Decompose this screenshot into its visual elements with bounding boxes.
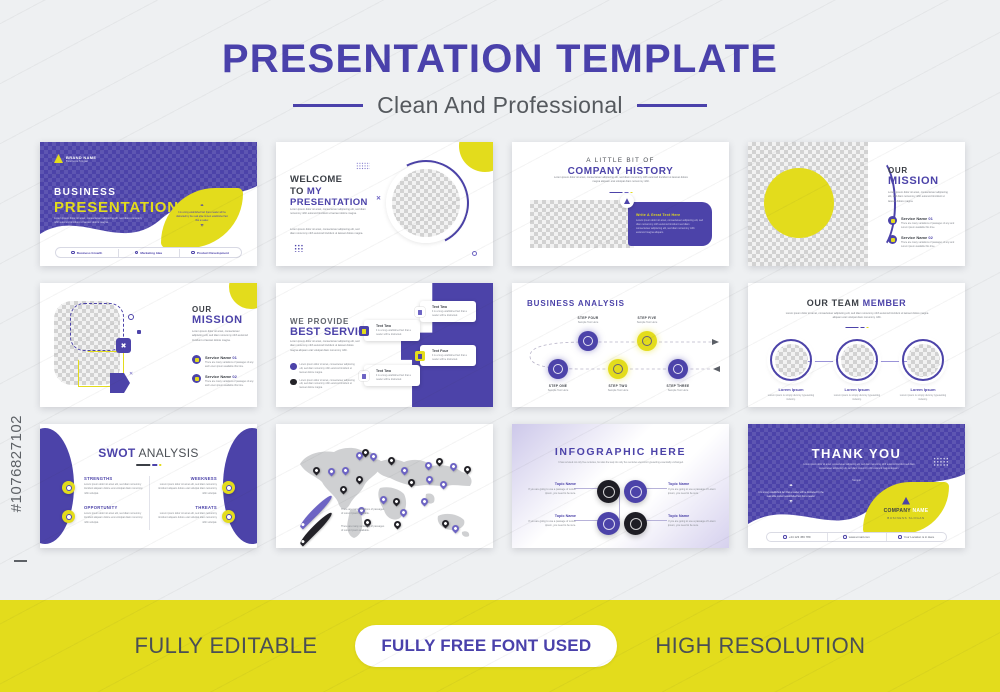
- step-sublabel: Sample Text Here: [626, 321, 668, 324]
- slide5-paragraph: Lorem ipsum dolor sit amet, consectetuer…: [192, 330, 248, 343]
- slide6-bullet-text: Lorem ipsum dolor sit amet, consectetuer…: [300, 363, 358, 375]
- threats-badge-icon: [222, 510, 235, 523]
- slide1-button-business-growth[interactable]: Business Growth: [56, 251, 118, 255]
- slide11-topic-body: If you are going to use a passage of Lor…: [668, 520, 716, 529]
- slide3-card-body: Lorem ipsum dolor sit amet, consectetuer…: [636, 219, 704, 236]
- slide5-title: OUR MISSION: [192, 305, 243, 326]
- slide2-title-line3: PRESENTATION: [290, 197, 368, 208]
- slide3-divider: [609, 192, 632, 193]
- building-icon: [888, 216, 897, 225]
- tools-icon: ✖: [116, 338, 131, 353]
- slide9-quadrant-body: Lorem ipsum dolor sit amet elit, sed dia…: [155, 512, 217, 525]
- slide12-company-name: COMPANY: [884, 508, 913, 514]
- avatar-photo-placeholder: [907, 344, 940, 377]
- step-sublabel: Sample Text Here: [537, 389, 579, 392]
- slide7-label-step-three: STEP THREE Sample Text Here: [657, 384, 699, 392]
- step-sublabel: Sample Text Here: [657, 389, 699, 392]
- slide9-quadrant-body: Lorem ipsum dolor sit amet elit, sed dia…: [84, 512, 146, 525]
- slide-thumb-business-analysis[interactable]: BUSINESS ANALYSIS STEP FOUR Sample Text …: [512, 283, 729, 407]
- slide11-topic-body: If you are going to use a passage of Lor…: [668, 488, 716, 497]
- avatar-photo-placeholder: [775, 344, 808, 377]
- slide7-node-step-three[interactable]: [668, 359, 688, 379]
- slide5-service-desc: There are many variations of passages of…: [205, 361, 255, 369]
- slide6-card: Text Two It is a long established fact t…: [420, 301, 476, 322]
- slide-thumb-welcome[interactable]: WELCOME TO MY PRESENTATION ✕ Lorem ipsum…: [276, 142, 493, 266]
- feature-free-font-pill: FULLY FREE FONT USED: [355, 625, 617, 667]
- slide11-hub-node[interactable]: [624, 480, 647, 503]
- page-title: PRESENTATION TEMPLATE: [0, 38, 1000, 80]
- slide9-title: SWOT ANALYSIS: [40, 446, 257, 460]
- slide12-quote-text: It is a long established fact that a rea…: [758, 492, 824, 500]
- slide6-bullet-text: Lorem ipsum dolor sit amet, consectetuer…: [300, 379, 358, 391]
- triangle-icon: [624, 198, 630, 204]
- slide1-button-label: Business Growth: [77, 251, 102, 255]
- slide-thumb-world-map[interactable]: There are many variations of passages of…: [276, 424, 493, 548]
- slide1-button-label: Marketing Idea: [140, 251, 162, 255]
- slide1-title-line2: PRESENTATION: [54, 199, 179, 216]
- slide7-node-step-five[interactable]: [637, 331, 657, 351]
- slide2-title: WELCOME TO MY PRESENTATION: [290, 174, 368, 208]
- slide6-card: Text Two It is a long established fact t…: [364, 320, 420, 341]
- slide4-service-item: Service Name 01 There are many variation…: [888, 216, 957, 230]
- slide12-contact-phone[interactable]: +44 123 456 789: [767, 535, 827, 539]
- slide6-card: Text Two It is a long established fact t…: [364, 365, 420, 386]
- slide11-topic-item: Topic Name If you are going to use a pas…: [668, 514, 716, 529]
- slide8-member-card[interactable]: Lorem Ipsum Lorem ipsum is simply dummy …: [760, 339, 822, 403]
- slide2-paragraph-1: Lorem ipsum dolor sit amet, consectetuer…: [290, 208, 368, 217]
- slide4-service-num: 02: [928, 235, 932, 240]
- slide12-contact-bar: +44 123 456 789 www.urmail.com Your Loca…: [766, 532, 947, 542]
- slide8-member-card[interactable]: Lorem Ipsum Lorem ipsum is simply dummy …: [892, 339, 954, 403]
- slide5-service-list: Service Name 01 There are many variation…: [192, 355, 255, 393]
- slide-thumb-team-member[interactable]: OUR TEAM MEMBER Lorem ipsum dolor sit am…: [748, 283, 965, 407]
- slide4-title-line2: MISSION: [888, 175, 939, 187]
- slide1-quote-text: It is a long established fact that a rea…: [174, 212, 230, 224]
- slide11-title: INFOGRAPHIC HERE: [512, 446, 729, 458]
- page-subtitle: Clean And Professional: [377, 92, 623, 119]
- slide6-bullet-item: Lorem ipsum dolor sit amet, consectetuer…: [290, 379, 358, 391]
- avatar: [836, 339, 878, 381]
- check-icon: [290, 379, 297, 386]
- slide5-service-item: Service Name 02 There are many variation…: [192, 374, 255, 388]
- slide11-connector: [574, 520, 600, 521]
- slide5-service-name: Service Name: [205, 355, 231, 360]
- slide9-quadrant-weekness: WEEKNESS Lorem ipsum dolor sit amet elit…: [155, 476, 217, 496]
- slide5-circle-decoration: [128, 314, 134, 320]
- slide6-card-body: It is a long established fact that a rea…: [432, 354, 472, 362]
- slide4-service-num: 01: [928, 216, 932, 221]
- slide8-member-desc: Lorem ipsum is simply dummy typesetting …: [760, 394, 822, 403]
- slide4-service-desc: There are many variations of passages of…: [901, 222, 957, 230]
- slide1-button-marketing-idea[interactable]: Marketing Idea: [118, 251, 180, 255]
- slide12-contact-text: Your Location is in Here: [904, 535, 935, 539]
- rocket-icon: [192, 374, 201, 383]
- pin-icon: [898, 535, 902, 539]
- slide6-card-title: Text Four: [432, 349, 472, 353]
- slide4-service-list: Service Name 01 There are many variation…: [888, 216, 957, 254]
- check-circle-icon: [71, 251, 74, 254]
- slide8-member-name: Lorem Ipsum: [892, 387, 954, 392]
- slide5-service-desc: There are many variations of passages of…: [205, 380, 255, 388]
- slide6-card-title: Text Two: [432, 305, 472, 309]
- slide-thumb-thank-you[interactable]: THANK YOU Lorem ipsum dolor sit amet, co…: [748, 424, 965, 548]
- slide3-badge: [620, 194, 634, 208]
- slide4-service-desc: There are many variations of passages of…: [901, 241, 957, 249]
- slide7-label-step-four: STEP FOUR Sample Text Here: [567, 316, 609, 324]
- slide9-vertical-divider: [149, 476, 150, 530]
- slide-grid: BRAND NAME Business Slogan BUSINESS PRES…: [40, 142, 966, 548]
- slide1-paragraph: Lorem ipsum dolor sit amet, consectetuer…: [54, 217, 142, 226]
- slide8-member-card[interactable]: Lorem Ipsum Lorem ipsum is simply dummy …: [826, 339, 888, 403]
- avatar: [902, 339, 944, 381]
- slide9-quadrant-title: OPPORTUNITY: [84, 505, 146, 510]
- strengths-badge-icon: [62, 481, 75, 494]
- slide1-button-product-development[interactable]: Product Development: [179, 251, 241, 255]
- slide-thumb-our-mission-photo[interactable]: OUR MISSION Lorem ipsum dolor sit amet, …: [748, 142, 965, 266]
- slide5-purple-arrow: [110, 373, 130, 393]
- globe-icon: [843, 535, 847, 539]
- page-subtitle-row: Clean And Professional: [0, 92, 1000, 119]
- slide6-card-body: It is a long established fact that a rea…: [376, 374, 416, 382]
- brand-name: BRAND NAME: [66, 155, 96, 160]
- slide8-member-name: Lorem Ipsum: [826, 387, 888, 392]
- slide6-card-title: Text Two: [376, 369, 416, 373]
- slide2-gear-icon: [472, 251, 477, 256]
- slide12-contact-text: www.urmail.com: [849, 535, 870, 539]
- slide11-topic-item: Topic Name If you are going to use a pas…: [668, 482, 716, 497]
- slide11-topic-title: Topic Name: [528, 482, 576, 486]
- phone-icon: [783, 535, 787, 539]
- slide7-node-step-one[interactable]: [548, 359, 568, 379]
- slide11-topic-title: Topic Name: [668, 482, 716, 486]
- check-icon: [290, 363, 297, 370]
- quote-open-icon: “: [200, 206, 204, 210]
- slide5-title-line2: MISSION: [192, 314, 243, 326]
- opportunity-badge-icon: [62, 510, 75, 523]
- slide2-title-line2: TO: [290, 186, 304, 197]
- quote-open-icon: “: [758, 486, 824, 490]
- slide11-topic-item: Topic Name If you are going to use a pas…: [528, 482, 576, 497]
- step-sublabel: Sample Text Here: [567, 321, 609, 324]
- slide6-card-body: It is a long established fact that a rea…: [432, 310, 472, 318]
- slide3-heading: A LITTLE BIT OF COMPANY HISTORY: [512, 157, 729, 177]
- slide2-circle-photo-frame: [383, 160, 469, 246]
- subtitle-rule-right: [637, 104, 707, 107]
- slide11-topic-body: If you are going to use a passage of Lor…: [528, 520, 576, 529]
- slide5-service-num: 02: [232, 374, 236, 379]
- slide5-service-num: 01: [232, 355, 236, 360]
- brand-slogan: Business Slogan: [66, 160, 96, 163]
- slide7-label-step-one: STEP ONE Sample Text Here: [537, 384, 579, 392]
- slide8-title-plain: OUR TEAM: [807, 298, 863, 308]
- slide12-company-slogan: BUSINESS SLOGAN: [887, 516, 925, 520]
- slide1-title-line1: BUSINESS: [54, 187, 179, 198]
- slide1-button-row: Business Growth Marketing Idea Product D…: [55, 247, 242, 258]
- slide4-service-name: Service Name: [901, 216, 927, 221]
- slide9-quadrant-threats: THREATS Lorem ipsum dolor sit amet elit,…: [155, 505, 217, 525]
- slide8-divider: [845, 327, 868, 328]
- slide6-paragraph: Lorem ipsum dolor sit amet, consectetuer…: [290, 340, 362, 353]
- slide8-member-name: Lorem Ipsum: [760, 387, 822, 392]
- slide9-quadrant-body: Lorem ipsum dolor sit amet elit, sed dia…: [155, 483, 217, 496]
- check-circle-icon: [135, 251, 138, 254]
- slide11-hub-node[interactable]: [597, 512, 620, 535]
- slide2-photo-placeholder: [392, 169, 460, 237]
- slide11-hub-node[interactable]: [624, 512, 647, 535]
- slide2-x-decoration-icon: ✕: [376, 195, 381, 202]
- slide4-title: OUR MISSION: [888, 166, 939, 187]
- slide12-company-name-accent: NAME: [912, 508, 928, 514]
- slide4-paragraph: Lorem ipsum dolor sit amet, consectetuer…: [888, 191, 950, 204]
- weekness-badge-icon: [222, 481, 235, 494]
- map-legend-text: There are many variations of passages of…: [341, 525, 385, 534]
- slide9-quadrant-body: Lorem ipsum dolor sit amet elit, sed dia…: [84, 483, 146, 496]
- slide11-hub-node[interactable]: [597, 480, 620, 503]
- check-circle-icon: [191, 251, 194, 254]
- slide11-topic-title: Topic Name: [528, 514, 576, 518]
- slide5-x-decoration-icon: ✕: [129, 371, 133, 377]
- feature-high-resolution: HIGH RESOLUTION: [655, 633, 865, 659]
- slide3-eyebrow: A LITTLE BIT OF: [512, 157, 729, 164]
- slide3-text-card: Write A Great Text Here Lorem ipsum dolo…: [628, 202, 712, 246]
- step-sublabel: Sample Text Here: [597, 389, 639, 392]
- slide9-quadrant-opportunity: OPPORTUNITY Lorem ipsum dolor sit amet e…: [84, 505, 146, 525]
- brand-triangle-icon: [54, 154, 63, 163]
- stock-id-watermark: #1076827102: [8, 415, 25, 512]
- slide6-card-body: It is a long established fact that a rea…: [376, 329, 416, 337]
- slide-thumb-company-history[interactable]: A LITTLE BIT OF COMPANY HISTORY Lorem ip…: [512, 142, 729, 266]
- slide11-topic-title: Topic Name: [668, 514, 716, 518]
- slide6-card: Text Four It is a long established fact …: [420, 345, 476, 366]
- slide-thumb-business-presentation[interactable]: BRAND NAME Business Slogan BUSINESS PRES…: [40, 142, 257, 266]
- slide2-paragraph-2: Lorem ipsum dolor sit amet, consectetuer…: [290, 228, 364, 237]
- slide11-topic-item: Topic Name If you are going to use a pas…: [528, 514, 576, 529]
- slide6-bullet-list: Lorem ipsum dolor sit amet, consectetuer…: [290, 363, 358, 394]
- slide4-yellow-circle: [764, 168, 834, 238]
- slide2-title-line1: WELCOME: [290, 174, 368, 186]
- slide-thumb-our-mission-shapes[interactable]: ✖ ✕ OUR MISSION Lorem ipsum dolor sit am…: [40, 283, 257, 407]
- step-label: STEP TWO: [597, 384, 639, 388]
- slide3-paragraph: Lorem ipsum dolor sit amet, consectetuer…: [550, 176, 692, 185]
- slide9-quadrant-title: WEEKNESS: [155, 476, 217, 481]
- slide11-subtitle: It has survived not only five centuries,…: [552, 462, 690, 466]
- quote-close-icon: ”: [200, 226, 204, 230]
- slide9-quadrant-title: STRENGTHS: [84, 476, 146, 481]
- quote-close-icon: ”: [758, 502, 824, 506]
- slide9-divider: [136, 464, 162, 466]
- slide-thumb-infographic[interactable]: INFOGRAPHIC HERE It has survived not onl…: [512, 424, 729, 548]
- brand-triangle-icon: [902, 497, 910, 505]
- slide4-service-name: Service Name: [901, 235, 927, 240]
- feature-fully-editable: FULLY EDITABLE: [135, 633, 318, 659]
- slide9-quadrant-strengths: STRENGTHS Lorem ipsum dolor sit amet eli…: [84, 476, 146, 496]
- slide12-contact-website[interactable]: www.urmail.com: [827, 535, 887, 539]
- slide7-node-step-two[interactable]: [608, 359, 628, 379]
- document-icon: [415, 351, 425, 361]
- slide5-service-item: Service Name 01 There are many variation…: [192, 355, 255, 369]
- slide11-connector: [574, 488, 600, 489]
- step-label: STEP THREE: [657, 384, 699, 388]
- step-label: STEP ONE: [537, 384, 579, 388]
- slide7-label-step-five: STEP FIVE Sample Text Here: [626, 316, 668, 324]
- slide-thumb-best-services[interactable]: WE PROVIDE BEST SERVICES Lorem ipsum dol…: [276, 283, 493, 407]
- slide4-service-item: Service Name 02 There are many variation…: [888, 235, 957, 249]
- page-header: PRESENTATION TEMPLATE Clean And Professi…: [0, 38, 1000, 119]
- slide3-card-title: Write A Great Text Here: [636, 213, 704, 217]
- subtitle-rule-left: [293, 104, 363, 107]
- slide3-photo-placeholder: [530, 200, 634, 248]
- document-icon: [359, 326, 369, 336]
- slide2-dot-grid-bottom: [294, 244, 304, 252]
- slide2-title-accent: MY: [307, 186, 322, 197]
- slide9-title-bold: SWOT: [98, 446, 135, 460]
- slide5-title-line1: OUR: [192, 305, 243, 314]
- step-label: STEP FOUR: [567, 316, 609, 320]
- slide12-paragraph: Lorem ipsum dolor sit amet, consectetuer…: [800, 464, 918, 472]
- feature-banner: FULLY EDITABLE FULLY FREE FONT USED HIGH…: [0, 600, 1000, 692]
- avatar-photo-placeholder: [841, 344, 874, 377]
- map-legend-text: There are many variations of passages of…: [341, 508, 385, 517]
- slide7-node-step-four[interactable]: [578, 331, 598, 351]
- map-legend-item: There are many variations of passages of…: [294, 525, 385, 534]
- slide12-contact-text: +44 123 456 789: [789, 535, 811, 539]
- slide1-button-label: Product Development: [197, 251, 229, 255]
- slide-thumb-swot-analysis[interactable]: SWOT ANALYSIS STRENGTHS Lorem ipsum dolo…: [40, 424, 257, 548]
- stock-id-tick: [14, 560, 27, 562]
- slide8-title: OUR TEAM MEMBER: [748, 298, 965, 308]
- slide8-member-desc: Lorem ipsum is simply dummy typesetting …: [826, 394, 888, 403]
- slide8-member-desc: Lorem ipsum is simply dummy typesetting …: [892, 394, 954, 403]
- slide12-dot-grid: [933, 457, 949, 467]
- slide11-topic-body: If you are going to use a passage of Lor…: [528, 488, 576, 497]
- slide6-bullet-item: Lorem ipsum dolor sit amet, consectetuer…: [290, 363, 358, 375]
- slide2-dot-grid-top: [356, 162, 370, 170]
- document-icon: [359, 371, 369, 381]
- slide8-paragraph: Lorem ipsum dolor sit amet, consectetuer…: [784, 312, 930, 321]
- slide5-square-decoration: [137, 330, 141, 334]
- slide9-title-plain: ANALYSIS: [136, 446, 199, 460]
- slide6-card-title: Text Two: [376, 324, 416, 328]
- slide8-title-bold: MEMBER: [863, 298, 907, 308]
- rocket-icon: [888, 235, 897, 244]
- slide4-title-line1: OUR: [888, 166, 939, 175]
- slide12-quote-block: “ It is a long established fact that a r…: [758, 486, 824, 506]
- slide12-contact-location[interactable]: Your Location is in Here: [886, 535, 946, 539]
- step-label: STEP FIVE: [626, 316, 668, 320]
- building-icon: [192, 355, 201, 364]
- slide1-title: BUSINESS PRESENTATION: [54, 187, 179, 216]
- slide1-logo: BRAND NAME Business Slogan: [54, 154, 96, 163]
- avatar: [770, 339, 812, 381]
- slide9-quadrant-title: THREATS: [155, 505, 217, 510]
- document-icon: [415, 307, 425, 317]
- map-legend-item: There are many variations of passages of…: [294, 508, 385, 517]
- slide7-label-step-two: STEP TWO Sample Text Here: [597, 384, 639, 392]
- slide5-service-name: Service Name: [205, 374, 231, 379]
